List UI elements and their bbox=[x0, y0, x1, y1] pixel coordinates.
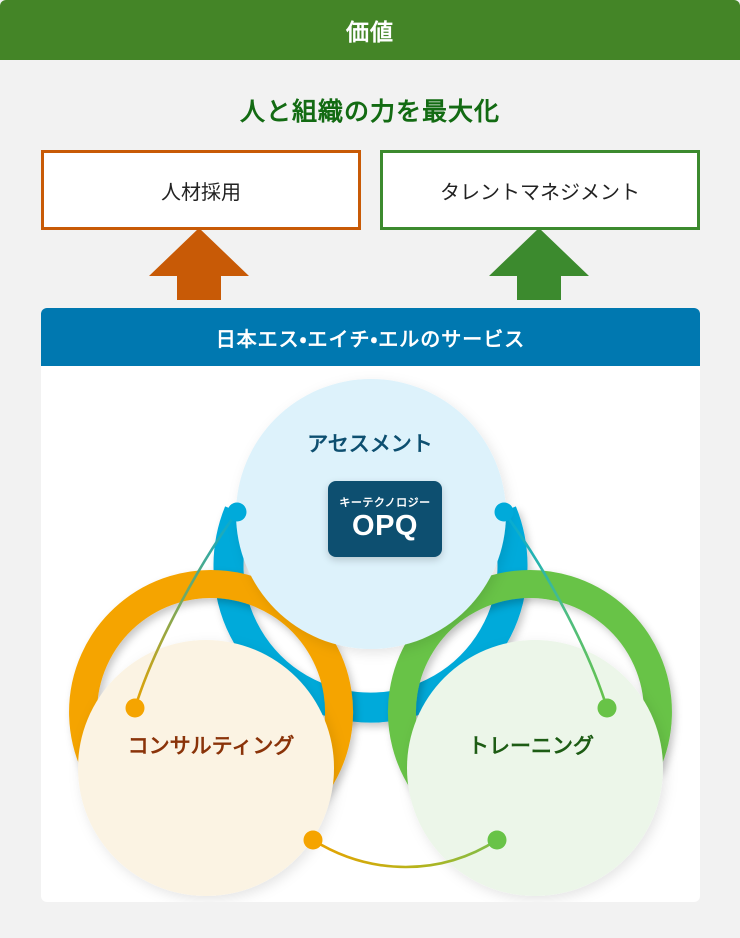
node-dot-training-bottom bbox=[488, 831, 507, 850]
service-banner: 日本エス・エイチ・エルのサービス bbox=[41, 308, 700, 366]
opq-kicker-label: キーテクノロジー bbox=[339, 498, 430, 509]
page-header: 価値 bbox=[0, 0, 740, 60]
arrow-up-talent-icon bbox=[489, 228, 589, 300]
service-panel: アセスメント コンサルティング トレーニング キーテクノロジー OPQ bbox=[41, 366, 700, 902]
box-recruitment-label: 人材採用 bbox=[161, 176, 241, 205]
box-talent-management-label: タレントマネジメント bbox=[440, 176, 640, 205]
opq-key-technology-badge: キーテクノロジー OPQ bbox=[328, 481, 442, 557]
node-dot-training-top bbox=[598, 699, 617, 718]
box-recruitment[interactable]: 人材採用 bbox=[41, 150, 361, 230]
subtitle: 人と組織の力を最大化 bbox=[0, 92, 740, 128]
opq-name-label: OPQ bbox=[352, 512, 418, 541]
node-dot-assessment-left bbox=[228, 503, 247, 522]
circle-consulting bbox=[78, 640, 334, 896]
page-title: 価値 bbox=[346, 13, 394, 47]
circle-training bbox=[407, 640, 663, 896]
service-banner-label: 日本エス・エイチ・エルのサービス bbox=[216, 323, 526, 352]
service-triangle-diagram bbox=[41, 366, 700, 902]
node-dot-consulting-bottom bbox=[304, 831, 323, 850]
node-dot-assessment-right bbox=[495, 503, 514, 522]
box-talent-management[interactable]: タレントマネジメント bbox=[380, 150, 700, 230]
arrow-up-recruitment-icon bbox=[149, 228, 249, 300]
value-diagram-card: 価値 人と組織の力を最大化 人材採用 タレントマネジメント 日本エス・エイチ・エ… bbox=[0, 0, 740, 902]
node-dot-consulting-top bbox=[126, 699, 145, 718]
